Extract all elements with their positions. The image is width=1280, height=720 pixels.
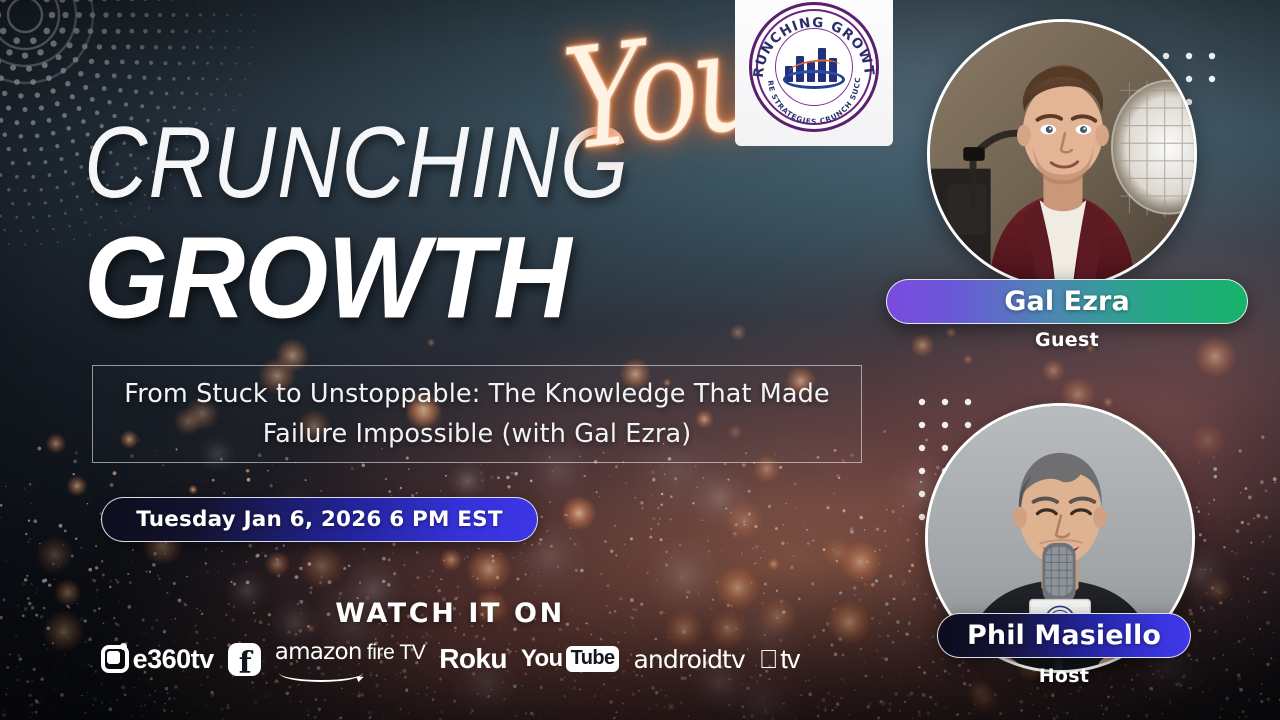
episode-title-text: From Stuck to Unstoppable: The Knowledge… bbox=[110, 374, 843, 454]
androidtv-label: androidtv bbox=[633, 645, 744, 674]
amazon-label: amazon bbox=[275, 639, 362, 665]
bar-chart-icon bbox=[783, 47, 845, 91]
guest-name-text: Gal Ezra bbox=[1004, 286, 1130, 317]
watch-it-on-heading: WATCH IT ON bbox=[0, 598, 900, 629]
promo-graphic: CRUNCHING GROWTH Your From Stuck to Unst… bbox=[0, 0, 1280, 720]
headline-line-2: GROWTH bbox=[84, 220, 570, 336]
platform-androidtv: androidtv bbox=[633, 639, 744, 679]
youtube-you-label: You bbox=[521, 645, 563, 673]
e360tv-label: e360tv bbox=[133, 644, 214, 675]
e360tv-icon bbox=[101, 645, 129, 673]
roku-label: Roku bbox=[439, 643, 507, 675]
platform-facebook: f bbox=[228, 639, 261, 679]
amazon-smile-icon bbox=[279, 671, 363, 682]
youtube-icon: Tube bbox=[566, 646, 620, 672]
amazon-tv-label: TV bbox=[399, 641, 425, 665]
fire-label: fire bbox=[367, 641, 395, 665]
host-role-label: Host bbox=[937, 665, 1191, 687]
episode-title-line-2: Failure Impossible (with Gal Ezra) bbox=[263, 419, 692, 449]
platform-amazon-firetv: amazon fire TV bbox=[275, 639, 426, 679]
host-name-text: Phil Masiello bbox=[967, 620, 1161, 651]
episode-title-line-1: From Stuck to Unstoppable: The Knowledge… bbox=[124, 379, 829, 409]
platform-e360tv: e360tv bbox=[101, 639, 214, 679]
platform-youtube: You Tube bbox=[521, 639, 620, 679]
platform-appletv:  tv bbox=[759, 639, 800, 679]
guest-photo bbox=[927, 19, 1197, 289]
guest-name-badge: Gal Ezra bbox=[886, 279, 1248, 324]
logo-ellipse bbox=[783, 70, 845, 89]
crunching-growth-logo: CRUNCHING GROWTH WHERE STRATEGIES CRUNCH… bbox=[735, 0, 893, 146]
broadcast-date-badge: Tuesday Jan 6, 2026 6 PM EST bbox=[101, 497, 538, 542]
host-name-badge: Phil Masiello bbox=[937, 613, 1191, 658]
platform-logo-row: e360tv f amazon fire TV Roku You Tube an… bbox=[0, 636, 900, 682]
platform-roku: Roku bbox=[439, 639, 507, 679]
appletv-label: tv bbox=[780, 644, 799, 675]
facebook-icon: f bbox=[228, 643, 261, 676]
apple-icon:  bbox=[759, 646, 779, 672]
episode-title-box: From Stuck to Unstoppable: The Knowledge… bbox=[92, 365, 862, 463]
broadcast-date-text: Tuesday Jan 6, 2026 6 PM EST bbox=[136, 507, 502, 532]
guest-role-label: Guest bbox=[886, 329, 1248, 351]
